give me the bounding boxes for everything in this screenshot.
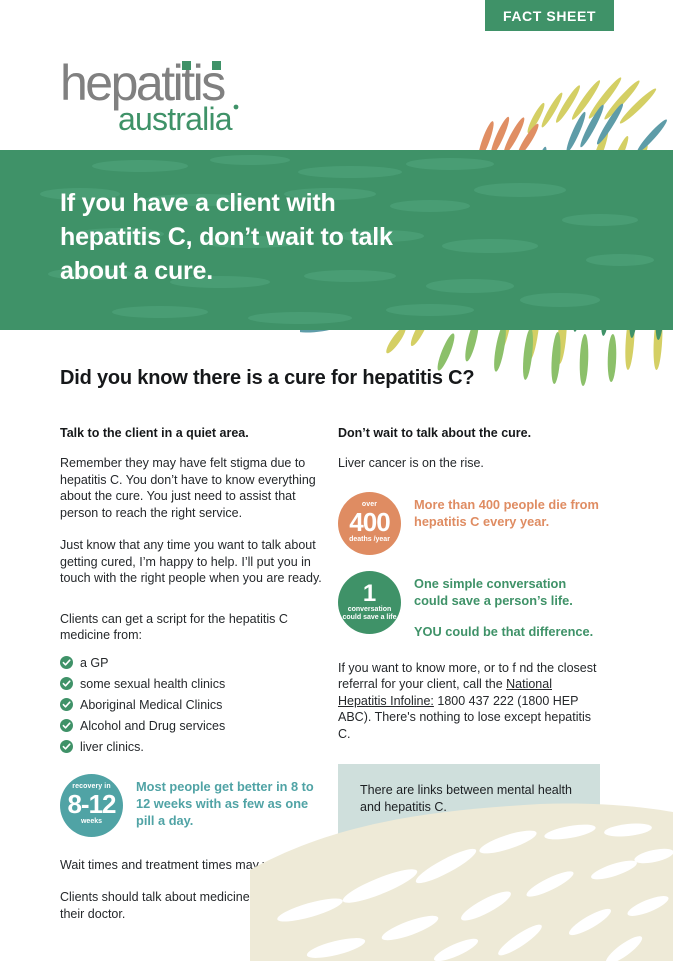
list-item-label: Aboriginal Medical Clinics [80,698,222,712]
left-paragraph-2: Just know that any time you want to talk… [60,537,322,587]
recovery-stat-caption-bottom: weeks [81,818,102,827]
deaths-stat: over 400 deaths /year More than 400 peop… [338,492,600,555]
you-emphasis: YOU [414,624,442,639]
left-paragraph-1: Remember they may have felt stigma due t… [60,455,322,521]
fact-sheet-page: FACT SHEET hepatitis australia [0,0,673,961]
infoline-text-part-1: If you want to know more, or to f nd the… [338,661,596,692]
conversation-stat-text-group: One simple conversation could save a per… [414,571,600,640]
conversation-stat-text-2: YOU could be that difference. [414,619,600,640]
deaths-stat-caption-bottom: deaths /year [349,536,390,545]
conversation-stat-caption-bottom: conversation could save a life [338,606,401,623]
check-circle-icon [60,740,73,753]
right-paragraph-1: Liver cancer is on the rise. [338,455,600,472]
conversation-stat-text-1: One simple conversation could save a per… [414,571,600,609]
you-rest: could be that difference. [442,624,593,639]
list-item-label: liver clinics. [80,740,144,754]
hero-banner: If you have a client with hepatitis C, d… [0,150,673,330]
check-circle-icon [60,719,73,732]
hepatitis-australia-logo: hepatitis australia [60,52,290,142]
banner-title: If you have a client with hepatitis C, d… [60,186,420,288]
list-item-label: Alcohol and Drug services [80,719,225,733]
conversation-stat: 1 conversation could save a life One sim… [338,571,600,640]
list-item: a GP [60,656,322,670]
script-list-intro: Clients can get a script for the hepatit… [60,611,322,644]
page-headline: Did you know there is a cure for hepatit… [60,367,620,390]
deaths-stat-circle: over 400 deaths /year [338,492,401,555]
list-item: Aboriginal Medical Clinics [60,698,322,712]
check-circle-icon [60,656,73,669]
svg-text:australia: australia [118,101,233,137]
left-subheading: Talk to the client in a quiet area. [60,425,322,441]
recovery-stat-circle: recovery in 8-12 weeks [60,774,123,837]
conversation-stat-value: 1 [363,582,376,606]
recovery-stat-value: 8-12 [67,791,115,817]
script-source-list: a GP some sexual health clinics Aborigin… [60,656,322,754]
list-item: Alcohol and Drug services [60,719,322,733]
check-circle-icon [60,677,73,690]
conversation-stat-circle: 1 conversation could save a life [338,571,401,634]
list-item-label: a GP [80,656,109,670]
decorative-swirl-graphic [250,800,673,961]
list-item: liver clinics. [60,740,322,754]
right-subheading: Don’t wait to talk about the cure. [338,425,600,441]
infoline-paragraph: If you want to know more, or to f nd the… [338,660,600,743]
fact-sheet-badge: FACT SHEET [485,0,614,31]
list-item: some sexual health clinics [60,677,322,691]
list-item-label: some sexual health clinics [80,677,225,691]
deaths-stat-value: 400 [349,509,389,535]
deaths-stat-text: More than 400 people die from hepatitis … [414,492,600,530]
check-circle-icon [60,698,73,711]
